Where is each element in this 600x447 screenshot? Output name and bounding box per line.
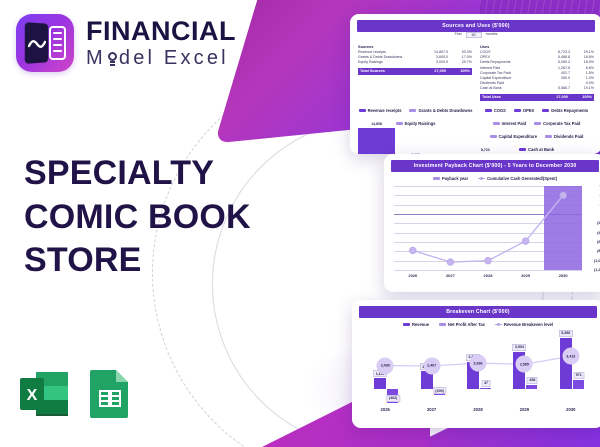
legend-label: Net Profit After Tax bbox=[448, 322, 485, 327]
x-tick-label: 2027 bbox=[432, 273, 470, 278]
sources-uses-period: First 60 months bbox=[350, 32, 600, 38]
sources-uses-mini-charts: Revenue receiptsGrants & Debts Drawdowns… bbox=[350, 101, 600, 154]
brand-name-line1: FINANCIAL bbox=[86, 18, 236, 45]
use-pct: 19.1% bbox=[570, 86, 594, 91]
legend-item[interactable]: Dividends Paid bbox=[545, 134, 583, 139]
legend-label: COGS bbox=[494, 108, 506, 113]
brand-name-line2-post: del Excel bbox=[119, 48, 229, 68]
x-tick-label: 2026 bbox=[362, 407, 408, 412]
npat-bar bbox=[573, 380, 584, 389]
legend-label: Revenue Breakeven level bbox=[504, 322, 553, 327]
legend-item[interactable]: Corporate Tax Paid bbox=[534, 121, 580, 126]
legend-item[interactable]: Revenue bbox=[403, 322, 429, 327]
legend-label: Revenue receipts bbox=[368, 108, 402, 113]
x-tick-label: 2029 bbox=[507, 273, 545, 278]
uses-header: Uses bbox=[480, 44, 594, 49]
revenue-value-label: 3,904 bbox=[512, 344, 526, 351]
bar-value-label: 14,808 bbox=[371, 122, 382, 126]
uses-total-amount: 27,000 bbox=[544, 95, 568, 99]
breakeven-x-axis-labels: 20262027202820292030 bbox=[362, 407, 594, 412]
sources-total-amount: 27,000 bbox=[422, 69, 446, 73]
payback-legend: Payback yearCumulative Cash Generated/(S… bbox=[384, 176, 600, 181]
breakeven-title: Breakeven Chart ($'000) bbox=[359, 306, 597, 318]
npat-value-label: 971 bbox=[573, 372, 584, 379]
legend-label: Cash at Bank bbox=[528, 147, 554, 152]
legend-label: Debts Repayments bbox=[551, 108, 588, 113]
legend-swatch bbox=[514, 109, 521, 112]
legend-swatch bbox=[485, 109, 492, 112]
npat-value-label: 458 bbox=[527, 377, 538, 384]
lightbulb-icon bbox=[107, 52, 118, 65]
legend-label: Revenue bbox=[412, 322, 429, 327]
sources-bar-chart: Revenue receiptsGrants & Debts Drawdowns… bbox=[358, 104, 473, 154]
use-amount: 5,566.7 bbox=[546, 86, 570, 91]
period-value[interactable]: 60 bbox=[466, 32, 482, 38]
legend-swatch bbox=[478, 178, 485, 179]
page-title: SPECIALTY COMIC BOOK STORE bbox=[24, 152, 294, 283]
use-label: Cash at Bank bbox=[480, 86, 546, 91]
npat-value-label: (462) bbox=[386, 395, 399, 402]
use-row: Cash at Bank5,566.719.1% bbox=[480, 86, 594, 91]
legend-item[interactable]: Cash at Bank bbox=[519, 147, 554, 152]
legend-label: Corporate Tax Paid bbox=[543, 121, 580, 126]
breakeven-plot: 1,140(462)1,844(200)2,818473,9044585,356… bbox=[362, 333, 594, 405]
legend-item[interactable]: Cumulative Cash Generated/(Spent) bbox=[478, 176, 557, 181]
microsoft-excel-icon[interactable]: X bbox=[20, 368, 68, 420]
panel-investment-payback: Investment Payback Chart ($'000) - 5 Yea… bbox=[384, 154, 600, 292]
legend-label: OPEX bbox=[523, 108, 534, 113]
legend-swatch bbox=[545, 135, 552, 138]
source-label: Equity Raisings bbox=[358, 60, 424, 65]
legend-item[interactable]: Revenue receipts bbox=[359, 108, 402, 113]
legend-swatch bbox=[490, 135, 497, 138]
brand-name-line2-pre: M bbox=[86, 48, 106, 68]
x-tick-label: 2026 bbox=[394, 273, 432, 278]
legend-label: Equity Raisings bbox=[405, 121, 436, 126]
sources-table: Sources Revenue receipts14,807.953.3%Gra… bbox=[358, 44, 472, 101]
source-amount: 3,000.0 bbox=[424, 60, 448, 65]
brand-name-line2: M del Excel bbox=[86, 48, 236, 68]
breakeven-level-bubble: 2,696 bbox=[470, 355, 487, 372]
legend-label: Capital Expenditure bbox=[499, 134, 537, 139]
brand-logo: FINANCIAL M del Excel bbox=[16, 14, 236, 72]
x-tick-label: 2028 bbox=[469, 273, 507, 278]
revenue-value-label: 5,356 bbox=[559, 330, 573, 337]
sources-total-row: Total Sources 27,000 100% bbox=[358, 68, 472, 75]
uses-total-row: Total Uses 27,000 100% bbox=[480, 94, 594, 101]
poster-canvas: FINANCIAL M del Excel SPECIALTY COMIC BO… bbox=[0, 0, 600, 447]
legend-swatch bbox=[493, 122, 500, 125]
bar: 14,808 bbox=[358, 128, 395, 154]
legend-item[interactable]: Debts Repayments bbox=[542, 108, 588, 113]
legend-swatch bbox=[534, 122, 541, 125]
x-tick-label: 2030 bbox=[548, 407, 594, 412]
legend-item[interactable]: Payback year bbox=[433, 176, 468, 181]
npat-value-label: (200) bbox=[433, 387, 446, 394]
legend-swatch bbox=[519, 148, 526, 151]
document-lines-icon bbox=[49, 26, 66, 60]
legend-label: Payback year bbox=[442, 176, 468, 181]
source-pct: 29.7% bbox=[448, 60, 472, 65]
svg-text:X: X bbox=[27, 387, 38, 404]
legend-swatch bbox=[542, 109, 549, 112]
legend-item[interactable]: Revenue Breakeven level bbox=[495, 322, 553, 327]
uses-chart-legend: COGSOPEXDebts RepaymentsInterest PaidCor… bbox=[479, 108, 594, 152]
legend-swatch bbox=[495, 324, 502, 325]
sources-total-label: Total Sources bbox=[360, 69, 422, 73]
period-suffix: months bbox=[486, 32, 498, 38]
legend-item[interactable]: Net Profit After Tax bbox=[439, 322, 485, 327]
bar-value-label: 8,723 bbox=[481, 148, 490, 152]
breakeven-legend: RevenueNet Profit After TaxRevenue Break… bbox=[352, 322, 600, 327]
sources-uses-title: Sources and Uses ($'000) bbox=[357, 20, 595, 32]
legend-label: Dividends Paid bbox=[554, 134, 583, 139]
sources-total-pct: 100% bbox=[446, 69, 470, 73]
legend-item[interactable]: Interest Paid bbox=[493, 121, 527, 126]
google-sheets-icon[interactable] bbox=[88, 368, 132, 420]
legend-item[interactable]: Capital Expenditure bbox=[490, 134, 537, 139]
source-row: Equity Raisings3,000.029.7% bbox=[358, 60, 472, 65]
sources-bars: 14,8083,6003,000 bbox=[358, 128, 473, 154]
legend-swatch bbox=[359, 109, 366, 112]
legend-label: Grants & Debts Drawdowns bbox=[418, 108, 472, 113]
file-format-icons: X bbox=[20, 368, 132, 420]
legend-swatch bbox=[403, 323, 410, 326]
x-tick-label: 2027 bbox=[408, 407, 454, 412]
legend-swatch bbox=[409, 109, 416, 112]
breakeven-level-bubble: 2,439 bbox=[377, 357, 394, 374]
payback-plot: 600400200-(200)(400)(600)(800)(1,000)(1,… bbox=[394, 186, 582, 270]
payback-y-axis-labels: 600400200-(200)(400)(600)(800)(1,000)(1,… bbox=[582, 186, 600, 270]
breakeven-level-bubble: 3,413 bbox=[562, 348, 579, 365]
y-tick-label: (1,000) bbox=[594, 259, 600, 263]
legend-swatch bbox=[439, 323, 446, 326]
sources-header: Sources bbox=[358, 44, 472, 49]
uses-total-pct: 100% bbox=[568, 95, 592, 99]
breakeven-level-bubble: 2,585 bbox=[516, 356, 533, 373]
npat-bar bbox=[480, 388, 491, 389]
legend-swatch bbox=[396, 122, 403, 125]
legend-item[interactable]: Equity Raisings bbox=[396, 121, 436, 126]
legend-item[interactable]: Grants & Debts Drawdowns bbox=[409, 108, 472, 113]
y-tick-label: (1,200) bbox=[594, 268, 600, 272]
legend-item[interactable]: COGS bbox=[485, 108, 506, 113]
x-tick-label: 2028 bbox=[455, 407, 501, 412]
breakeven-level-bubble: 2,407 bbox=[423, 357, 440, 374]
panel-sources-and-uses: Sources and Uses ($'000) First 60 months… bbox=[350, 14, 600, 154]
x-tick-label: 2030 bbox=[544, 273, 582, 278]
x-tick-label: 2029 bbox=[501, 407, 547, 412]
panel-breakeven: Breakeven Chart ($'000) RevenueNet Profi… bbox=[352, 300, 600, 428]
sources-uses-tables: Sources Revenue receipts14,807.953.3%Gra… bbox=[350, 40, 600, 101]
npat-value-label: 47 bbox=[482, 380, 491, 387]
payback-x-axis-labels: 20262027202820292030 bbox=[394, 273, 582, 278]
uses-total-label: Total Uses bbox=[482, 95, 544, 99]
legend-label: Cumulative Cash Generated/(Spent) bbox=[487, 176, 557, 181]
period-prefix: First bbox=[455, 32, 462, 38]
legend-item[interactable]: OPEX bbox=[514, 108, 534, 113]
payback-title: Investment Payback Chart ($'000) - 5 Yea… bbox=[391, 160, 599, 172]
revenue-bar bbox=[374, 378, 386, 389]
npat-bar bbox=[526, 385, 537, 389]
payback-line-series bbox=[394, 186, 582, 270]
uses-bar-chart: COGSOPEXDebts RepaymentsInterest PaidCor… bbox=[479, 104, 594, 154]
uses-table: Uses COGS8,723.329.1%OPEX5,468.818.6%Deb… bbox=[480, 44, 594, 101]
legend-label: Interest Paid bbox=[502, 121, 527, 126]
wave-line-icon bbox=[28, 39, 46, 49]
chart-document-icon bbox=[16, 14, 74, 72]
legend-swatch bbox=[433, 177, 440, 180]
